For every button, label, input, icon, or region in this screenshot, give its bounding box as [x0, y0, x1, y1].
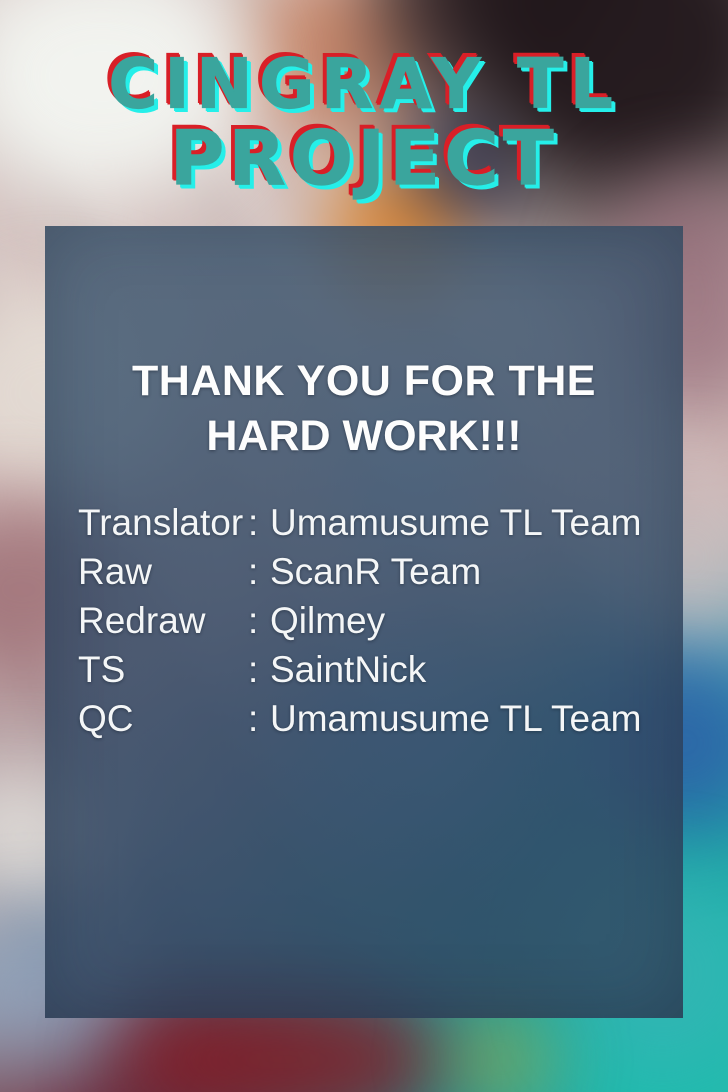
heading-line-1: THANK YOU FOR THE [45, 354, 683, 409]
credit-role: Redraw [78, 596, 248, 645]
credit-role: TS [78, 645, 248, 694]
thank-you-heading: THANK YOU FOR THE HARD WORK!!! [45, 354, 683, 463]
credits-list: Translator : Umamusume TL Team Raw : Sca… [78, 498, 642, 743]
credit-row: Redraw : Qilmey [78, 596, 642, 645]
credit-name: Umamusume TL Team [270, 694, 642, 743]
credit-row: Raw : ScanR Team [78, 547, 642, 596]
credit-name: SaintNick [270, 645, 426, 694]
credit-role: Raw [78, 547, 248, 596]
heading-line-2: HARD WORK!!! [45, 409, 683, 464]
credits-page: CINGRAY TL PROJECT THANK YOU FOR THE HAR… [0, 0, 728, 1092]
credit-separator: : [248, 547, 270, 596]
credit-row: QC : Umamusume TL Team [78, 694, 642, 743]
credit-row: Translator : Umamusume TL Team [78, 498, 642, 547]
credit-name: ScanR Team [270, 547, 481, 596]
credit-separator: : [248, 498, 270, 547]
credit-role: Translator [78, 498, 248, 547]
credit-name: Qilmey [270, 596, 385, 645]
credit-separator: : [248, 645, 270, 694]
credit-separator: : [248, 694, 270, 743]
credits-panel: THANK YOU FOR THE HARD WORK!!! Translato… [45, 226, 683, 1018]
credit-name: Umamusume TL Team [270, 498, 642, 547]
credit-row: TS : SaintNick [78, 645, 642, 694]
credit-role: QC [78, 694, 248, 743]
credit-separator: : [248, 596, 270, 645]
